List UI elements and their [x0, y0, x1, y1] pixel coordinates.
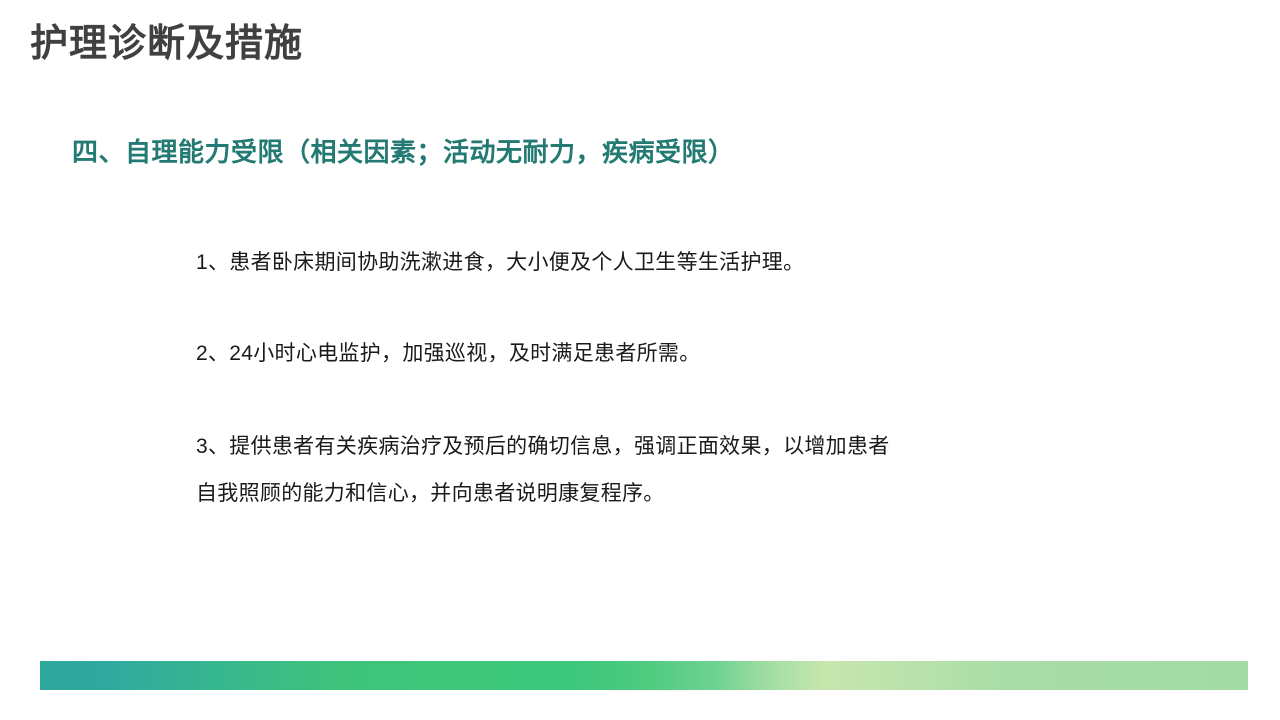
list-item: 1、患者卧床期间协助洗漱进食，大小便及个人卫生等生活护理。	[196, 248, 1196, 278]
list-item: 2、24小时心电监护，加强巡视，及时满足患者所需。	[196, 339, 1196, 369]
slide: 护理诊断及措施 四、自理能力受限（相关因素；活动无耐力，疾病受限） 1、患者卧床…	[0, 0, 1280, 720]
page-title: 护理诊断及措施	[30, 22, 303, 68]
section-heading: 四、自理能力受限（相关因素；活动无耐力，疾病受限）	[72, 136, 735, 169]
list-item-line: 自我照顾的能力和信心，并向患者说明康复程序。	[196, 479, 1196, 509]
list-item-line: 2、24小时心电监护，加强巡视，及时满足患者所需。	[196, 339, 1196, 369]
list-item-line: 3、提供患者有关疾病治疗及预后的确切信息，强调正面效果，以增加患者	[196, 432, 1196, 462]
footer-gradient-bar	[40, 661, 1248, 690]
measures-list: 1、患者卧床期间协助洗漱进食，大小便及个人卫生等生活护理。 2、24小时心电监护…	[196, 248, 1196, 510]
list-item-line: 1、患者卧床期间协助洗漱进食，大小便及个人卫生等生活护理。	[196, 248, 1196, 278]
list-item: 3、提供患者有关疾病治疗及预后的确切信息，强调正面效果，以增加患者 自我照顾的能…	[196, 432, 1196, 510]
